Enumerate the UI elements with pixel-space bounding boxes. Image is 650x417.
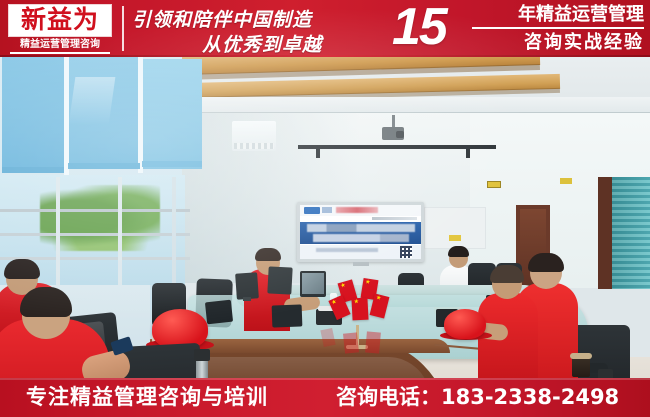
slide-subtitle-line bbox=[372, 217, 417, 220]
person-red-right-front-hair bbox=[490, 265, 524, 283]
flag-reflection-1 bbox=[343, 332, 359, 353]
window-post-3 bbox=[172, 177, 176, 289]
table-reflection bbox=[200, 357, 430, 378]
slide-band-text-line-2 bbox=[313, 234, 409, 242]
coffee-cup-lid bbox=[570, 353, 592, 359]
footer-tagline: 专注精益管理咨询与培训 bbox=[26, 384, 268, 411]
desk-monitor-5 bbox=[272, 304, 303, 327]
footer-bar: 专注精益管理咨询与培训 咨询电话：183-2338-2498 bbox=[0, 378, 650, 417]
desk-monitor-2 bbox=[267, 266, 292, 294]
company-logo[interactable]: 新益为 精益运营管理咨询 bbox=[8, 4, 112, 52]
roller-blind-3 bbox=[142, 59, 202, 169]
meeting-room-photo bbox=[0, 57, 650, 378]
years-text-block: 年精益运营管理 咨询实战经验 bbox=[472, 2, 644, 56]
curtain-rail-bracket-left bbox=[316, 149, 320, 158]
header-divider bbox=[122, 6, 124, 51]
header-bar: 新益为 精益运营管理咨询 引领和陪伴中国制造 从优秀到卓越 15 年精益运营管理… bbox=[0, 0, 650, 57]
window-mullion-2 bbox=[138, 57, 143, 173]
curtain-rail-bracket-right bbox=[466, 149, 470, 158]
logo-subtitle-text: 精益运营管理咨询 bbox=[8, 38, 112, 52]
safety-helmet-right bbox=[444, 309, 486, 339]
slide-band-text-line-1 bbox=[307, 224, 415, 232]
person-red-left-back-hair bbox=[4, 259, 40, 279]
desk-monitor-1-stand bbox=[243, 297, 251, 301]
blind-bottom-bar-3 bbox=[142, 161, 202, 167]
wall-board bbox=[424, 207, 486, 249]
experience-badge: 15 年精益运营管理 咨询实战经验 bbox=[384, 1, 644, 57]
years-number: 15 bbox=[392, 0, 446, 55]
logo-name-text: 新益为 bbox=[8, 3, 112, 37]
slogan-line-2: 从优秀到卓越 bbox=[202, 30, 322, 57]
years-line-1: 年精益运营管理 bbox=[472, 2, 644, 27]
logo-underline bbox=[10, 52, 110, 54]
person-red-right-back-hair bbox=[528, 253, 564, 272]
chinese-flag-4 bbox=[351, 298, 368, 321]
coffee-cup bbox=[572, 357, 590, 377]
wall-sign-middle bbox=[449, 235, 461, 241]
blind-bottom-bar-2 bbox=[68, 163, 140, 169]
years-rule bbox=[472, 27, 644, 29]
window-post-2 bbox=[118, 177, 122, 289]
table-leg-3-cap bbox=[598, 369, 613, 378]
qr-code-icon bbox=[400, 246, 412, 258]
footer-phone[interactable]: 咨询电话：183-2338-2498 bbox=[336, 384, 619, 411]
window-railing-1 bbox=[0, 209, 190, 212]
header-slogan: 引领和陪伴中国制造 从优秀到卓越 bbox=[132, 2, 382, 55]
person-white-shirt-hair bbox=[448, 246, 469, 257]
slide-title-blurred bbox=[336, 207, 378, 213]
promo-banner-image: 新益为 精益运营管理咨询 引领和陪伴中国制造 从优秀到卓越 15 年精益运营管理… bbox=[0, 0, 650, 417]
wall-sign-right bbox=[560, 178, 572, 184]
slide-footer-text bbox=[316, 248, 378, 252]
blind-bottom-bar-1 bbox=[2, 167, 64, 173]
window-post-1 bbox=[56, 177, 60, 289]
roller-blind-fold bbox=[69, 77, 116, 125]
flag-reflection-2 bbox=[365, 331, 381, 353]
wall-sign-upper bbox=[487, 181, 501, 188]
desk-monitor-4 bbox=[205, 300, 233, 325]
person-red-mid-hair bbox=[255, 248, 281, 261]
table-leg-1-cap bbox=[194, 349, 210, 361]
roller-blind-1 bbox=[2, 57, 64, 173]
right-window-shading bbox=[612, 177, 650, 289]
slide-logo-icon bbox=[304, 207, 320, 214]
slide-logo-secondary-icon bbox=[322, 207, 332, 213]
ceiling-soffit bbox=[180, 97, 650, 113]
air-conditioner-vent bbox=[234, 143, 274, 149]
window-mullion-1 bbox=[64, 57, 69, 175]
screen-stand bbox=[353, 262, 369, 266]
window-railing-2 bbox=[0, 233, 190, 236]
slogan-line-1: 引领和陪伴中国制造 bbox=[132, 5, 312, 32]
desk-monitor-3-screen bbox=[302, 273, 324, 294]
projector-lens bbox=[396, 131, 404, 138]
years-line-2: 咨询实战经验 bbox=[472, 30, 644, 56]
desk-monitor-1 bbox=[235, 272, 259, 299]
